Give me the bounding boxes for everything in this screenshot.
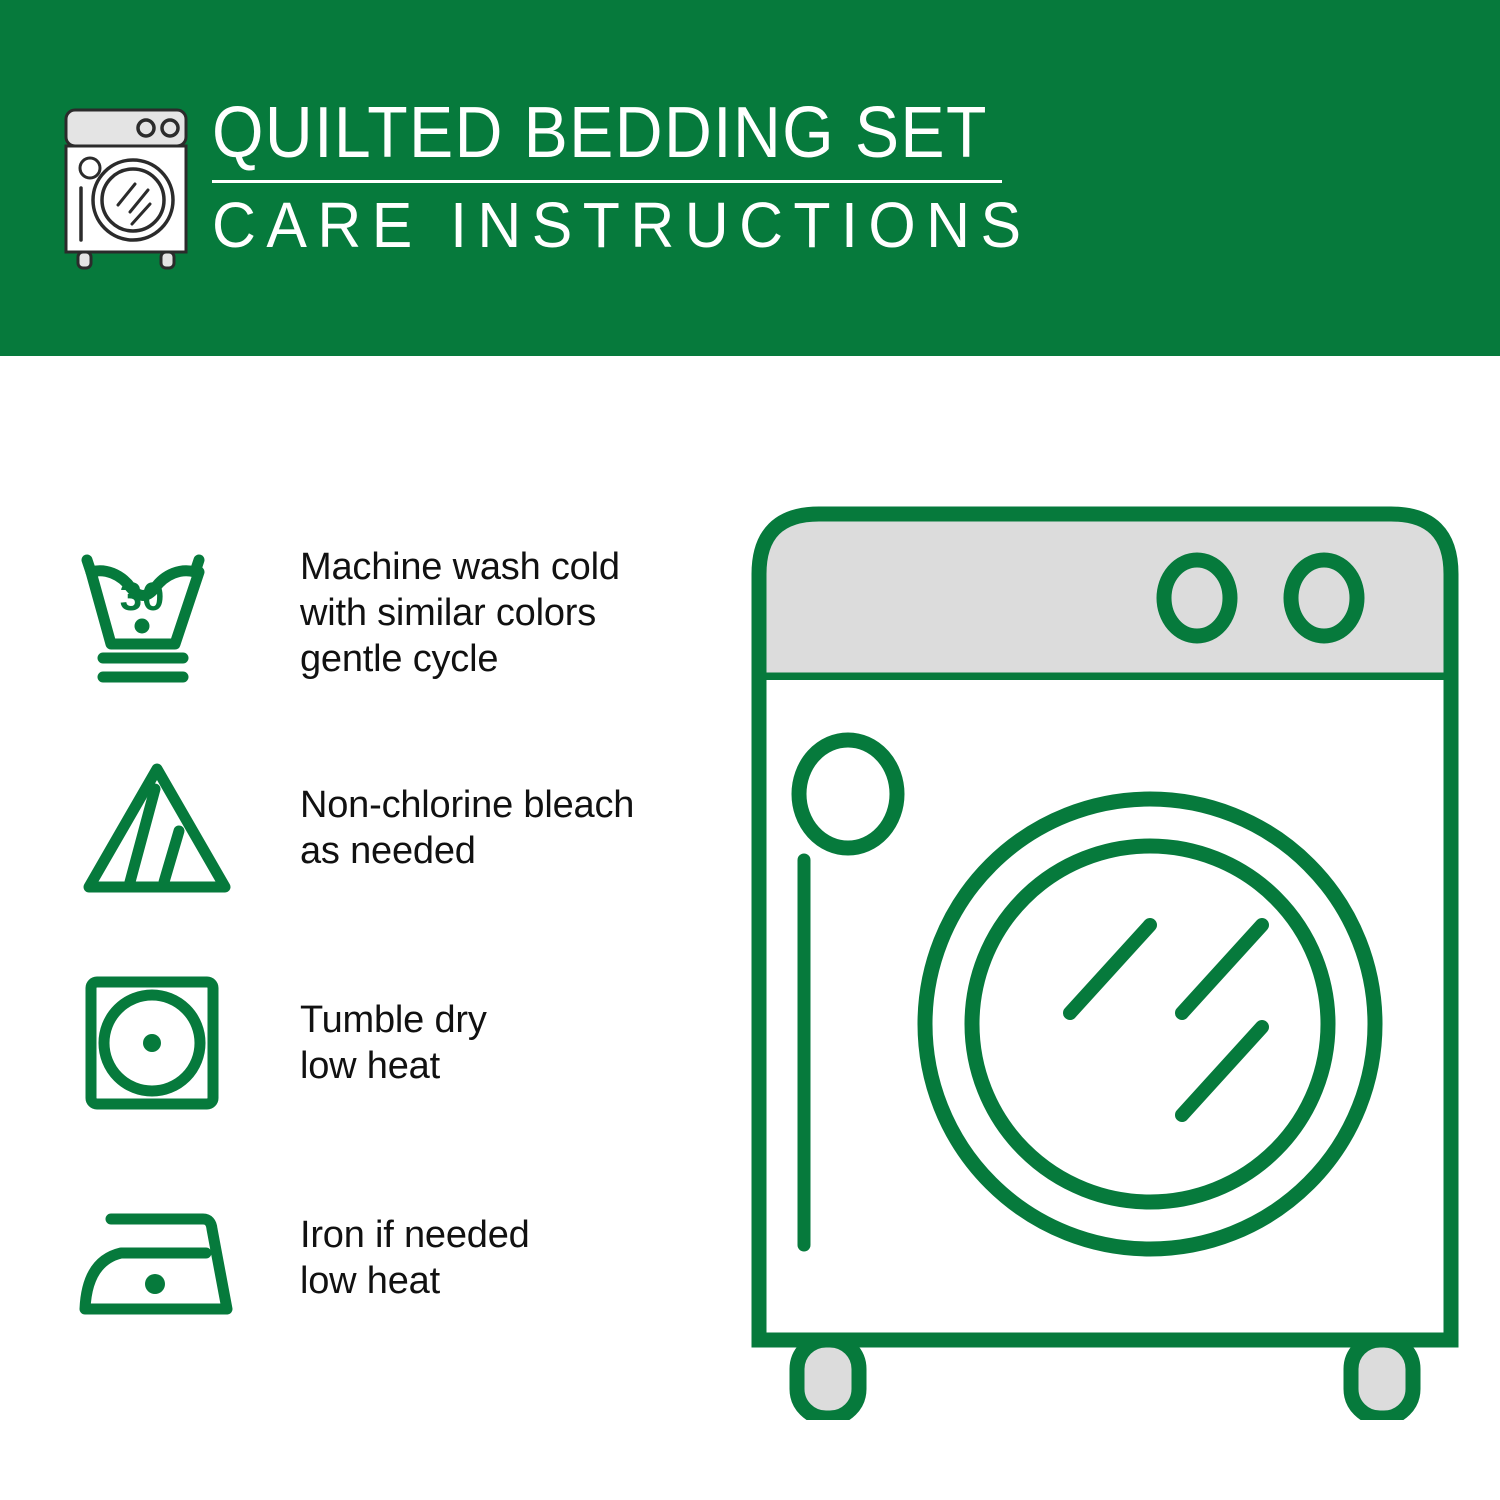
bleach-triangle-non-chlorine-icon (75, 753, 240, 903)
control-panel (759, 514, 1451, 680)
front-load-washing-machine-illustration (745, 500, 1465, 1420)
tumble-dry-low-heat-icon (75, 968, 240, 1118)
care-text-iron: Iron if needed low heat (300, 1212, 530, 1304)
header-content: QUILTED BEDDING SET CARE INSTRUCTIONS (60, 96, 1075, 276)
care-row-machine-wash: 30 Machine wash cold with similar colors… (75, 505, 715, 720)
leg-right (1351, 1340, 1413, 1418)
care-text-machine-wash: Machine wash cold with similar colors ge… (300, 544, 620, 682)
care-row-bleach: Non-chlorine bleach as needed (75, 720, 715, 935)
washing-machine-icon (60, 104, 192, 276)
care-text-bleach: Non-chlorine bleach as needed (300, 782, 634, 874)
care-text-tumble-dry: Tumble dry low heat (300, 997, 487, 1089)
care-instruction-list: 30 Machine wash cold with similar colors… (75, 505, 715, 1365)
care-row-tumble-dry: Tumble dry low heat (75, 935, 715, 1150)
iron-low-heat-icon (75, 1183, 240, 1333)
wash-tub-30-gentle-icon: 30 (75, 538, 240, 688)
header-banner: QUILTED BEDDING SET CARE INSTRUCTIONS (0, 0, 1500, 356)
title-divider (212, 180, 1002, 183)
header-titles: QUILTED BEDDING SET CARE INSTRUCTIONS (212, 96, 1075, 259)
page-subtitle: CARE INSTRUCTIONS (212, 191, 1031, 259)
care-row-iron: Iron if needed low heat (75, 1150, 715, 1365)
leg-left (797, 1340, 859, 1418)
page-title: QUILTED BEDDING SET (212, 96, 1006, 170)
wash-temperature-value: 30 (120, 575, 165, 619)
